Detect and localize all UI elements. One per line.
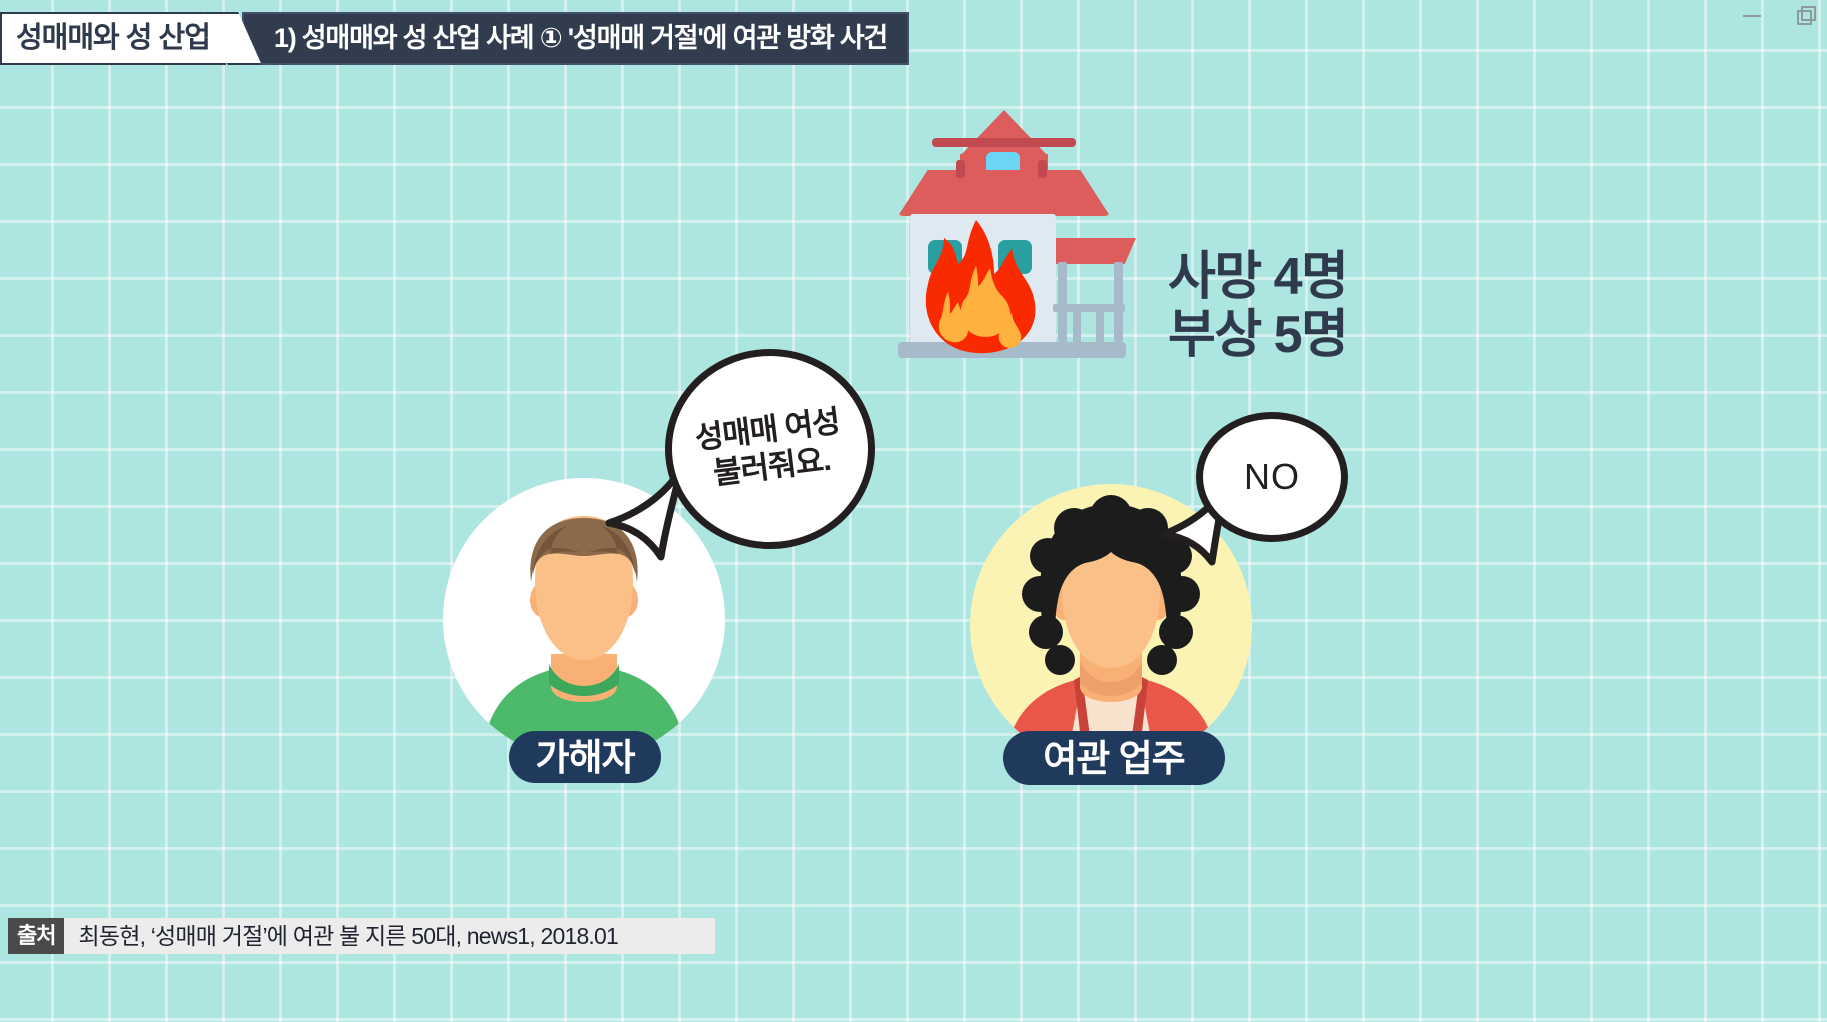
porch-awning [1056,238,1136,264]
offender-label: 가해자 [535,739,634,776]
casualty-counts: 사망 4명 부상 5명 [1168,248,1347,364]
section-title: 1) 성매매와 성 산업 사례 ① '성매매 거절'에 여관 방화 사건 [274,25,887,52]
restore-window-icon[interactable] [1791,4,1817,26]
source-badge: 출처 [8,918,64,954]
source-bar: 출처 최동현, ‘성매매 거절’에 여관 불 지른 50대, news1, 20… [8,918,715,954]
porch-baluster-1 [1073,310,1081,344]
porch-post-right [1114,262,1123,342]
chapter-tab: 성매매와 성 산업 [0,12,226,65]
roof-peg-right [1038,160,1047,178]
label-pill-offender: 가해자 [509,731,661,783]
source-citation: 최동현, ‘성매매 거절’에 여관 불 지른 50대, news1, 2018.… [64,918,618,954]
chapter-label: 성매매와 성 산업 [16,24,210,53]
fire-icon [914,218,1042,354]
inn-owner-label: 여관 업주 [1043,740,1184,777]
roof-shape [898,170,1110,216]
label-pill-inn-owner: 여관 업주 [1003,731,1225,785]
porch-rail [1053,304,1125,312]
burning-building-icon [898,110,1110,368]
inn-owner-bubble-text: NO [1244,456,1300,498]
building-roof [898,170,1110,216]
building-attic-roof [960,110,1048,156]
speech-bubble-inn-owner-body: NO [1196,412,1348,542]
window-controls [1739,4,1817,26]
deaths-count: 사망 4명 [1168,248,1347,306]
slide-canvas: 성매매와 성 산업 1) 성매매와 성 산업 사례 ① '성매매 거절'에 여관… [0,0,1827,1022]
minimize-icon[interactable] [1739,4,1765,26]
porch-baluster-2 [1096,310,1104,344]
roof-peg-left [956,160,965,178]
speech-bubble-offender-body: 성매매 여성 불러줘요. [665,349,875,549]
injuries-count: 부상 5명 [1168,306,1347,364]
porch-post-left [1058,262,1067,342]
section-bar: 1) 성매매와 성 산업 사례 ① '성매매 거절'에 여관 방화 사건 [242,12,909,65]
speech-bubble-inn-owner: NO [1196,412,1348,572]
offender-bubble-text: 성매매 여성 불러줘요. [693,404,846,494]
slide-header: 성매매와 성 산업 1) 성매매와 성 산업 사례 ① '성매매 거절'에 여관… [0,12,909,65]
speech-bubble-offender: 성매매 여성 불러줘요. [665,349,875,581]
roof-stripe [932,138,1076,147]
